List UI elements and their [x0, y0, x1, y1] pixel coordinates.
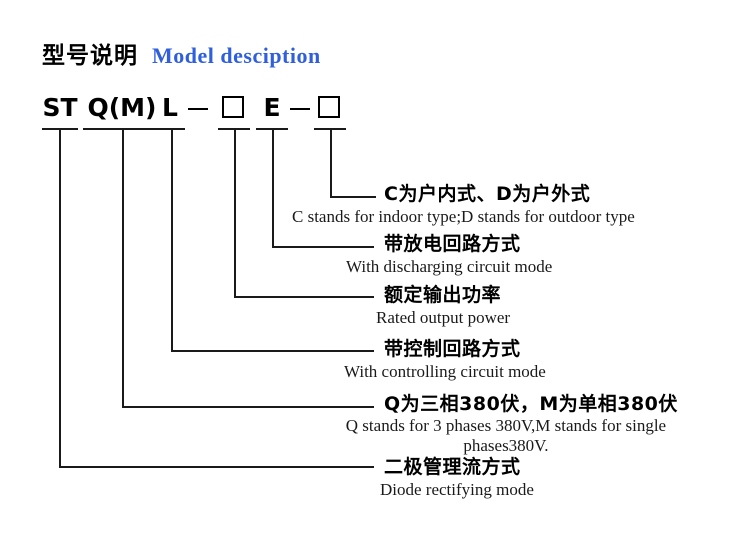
- annotation-enclosure-type-english: C stands for indoor type;D stands for ou…: [292, 206, 635, 227]
- annotation-phase-voltage-chinese: Q为三相380伏，M为单相380伏: [384, 392, 678, 416]
- leader-horizontal-2: [272, 246, 374, 248]
- annotation-rectifying-mode: 二极管理流方式 Diode rectifying mode: [384, 455, 534, 500]
- leader-vertical-3: [234, 128, 236, 296]
- annotation-discharging-circuit-chinese: 带放电回路方式: [384, 232, 552, 256]
- page-title: 型号说明 Model desciption: [42, 36, 321, 70]
- code-segment-e: E: [258, 94, 286, 122]
- leader-vertical-6: [59, 128, 61, 466]
- annotation-rectifying-mode-english: Diode rectifying mode: [380, 479, 534, 500]
- annotation-rated-power-chinese: 额定输出功率: [384, 283, 510, 307]
- code-separator-dash-2: [290, 108, 310, 110]
- annotation-phase-voltage: Q为三相380伏，M为单相380伏 Q stands for 3 phases …: [384, 392, 678, 456]
- leader-horizontal-5: [122, 406, 374, 408]
- leader-horizontal-3: [234, 296, 374, 298]
- leader-vertical-5: [122, 128, 124, 406]
- annotation-enclosure-type-chinese: C为户内式、D为户外式: [384, 182, 635, 206]
- annotation-discharging-circuit: 带放电回路方式 With discharging circuit mode: [384, 232, 552, 277]
- code-segment-qm: Q(M): [83, 94, 161, 122]
- page-title-english: Model desciption: [152, 43, 321, 69]
- annotation-rated-power: 额定输出功率 Rated output power: [384, 283, 510, 328]
- annotation-rated-power-english: Rated output power: [376, 307, 510, 328]
- code-segment-l: L: [157, 94, 183, 122]
- leader-vertical-2: [272, 128, 274, 246]
- annotation-phase-voltage-english-cont: phases380V.: [334, 436, 678, 456]
- leader-horizontal-4: [171, 350, 374, 352]
- page-title-chinese: 型号说明: [42, 36, 138, 70]
- code-segment-box-enclosure: [318, 96, 340, 118]
- leader-horizontal-1: [330, 196, 376, 198]
- annotation-controlling-circuit: 带控制回路方式 With controlling circuit mode: [384, 337, 546, 382]
- annotation-rectifying-mode-chinese: 二极管理流方式: [384, 455, 534, 479]
- annotation-phase-voltage-english: Q stands for 3 phases 380V,M stands for …: [334, 416, 678, 436]
- annotation-discharging-circuit-english: With discharging circuit mode: [346, 256, 552, 277]
- leader-horizontal-6: [59, 466, 374, 468]
- annotation-enclosure-type: C为户内式、D为户外式 C stands for indoor type;D s…: [384, 182, 635, 227]
- annotation-controlling-circuit-chinese: 带控制回路方式: [384, 337, 546, 361]
- code-segment-box-power: [222, 96, 244, 118]
- code-segment-st: ST: [42, 94, 78, 122]
- leader-vertical-1: [330, 128, 332, 196]
- leader-vertical-4: [171, 128, 173, 350]
- code-separator-dash-1: [188, 108, 208, 110]
- annotation-controlling-circuit-english: With controlling circuit mode: [344, 361, 546, 382]
